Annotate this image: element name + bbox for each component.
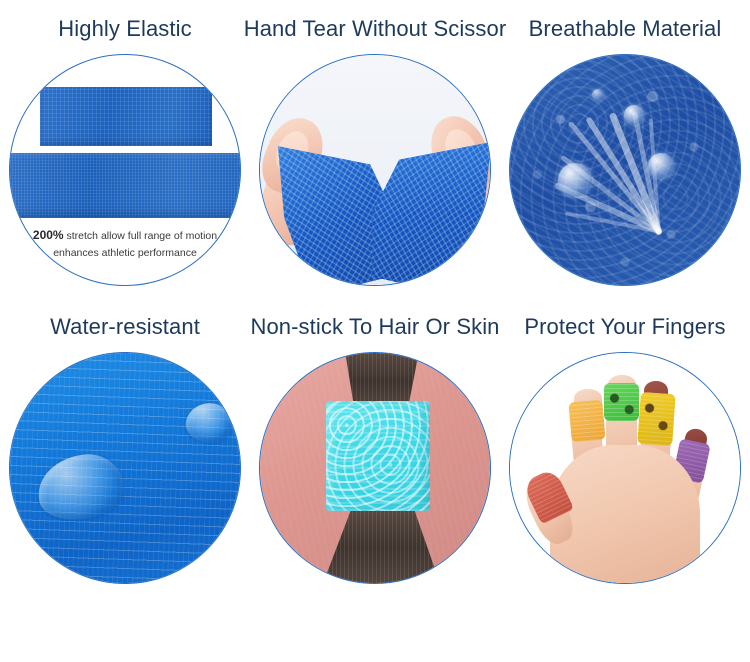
light-streaks-icon [510, 55, 740, 285]
feature-cell-water-resistant: Water-resistant [0, 300, 250, 584]
circle-frame [509, 352, 741, 584]
feature-row-top: Highly Elastic 200% stretch allow full r… [0, 0, 750, 286]
bandage-index-orange [568, 400, 605, 443]
circle-frame [509, 54, 741, 286]
elastic-caption: 200% stretch allow full range of motion … [10, 227, 240, 262]
bandage-strip-stretched [9, 153, 241, 218]
elastic-caption-line-1: 200% stretch allow full range of motion [33, 230, 217, 242]
feature-image-protect-fingers [509, 352, 741, 584]
feature-image-hand-tear [259, 54, 491, 286]
bandage-strip-unstretched [40, 87, 212, 146]
circle-frame [259, 54, 491, 286]
circle-frame [259, 352, 491, 584]
circle-frame: 200% stretch allow full range of motion … [9, 54, 241, 286]
turquoise-bandage-wrap [326, 401, 430, 511]
feature-title-non-stick: Non-stick To Hair Or Skin [250, 316, 499, 338]
palm [550, 445, 700, 584]
feature-cell-protect-fingers: Protect Your Fingers [500, 300, 750, 584]
bandage-middle-green [604, 383, 639, 421]
feature-cell-highly-elastic: Highly Elastic 200% stretch allow full r… [0, 0, 250, 286]
bandage-ring-yellow [637, 392, 676, 446]
feature-title-hand-tear: Hand Tear Without Scissor [244, 18, 507, 40]
circle-frame [9, 352, 241, 584]
feature-title-protect-fingers: Protect Your Fingers [524, 316, 725, 338]
feature-cell-hand-tear: Hand Tear Without Scissor [250, 0, 500, 286]
feature-image-non-stick [259, 352, 491, 584]
water-bubble-small [624, 105, 644, 125]
feature-grid-sheet: Highly Elastic 200% stretch allow full r… [0, 0, 750, 662]
elastic-caption-line-1-text: stretch allow full range of motion [64, 230, 218, 242]
feature-cell-breathable: Breathable Material [500, 0, 750, 286]
feature-image-highly-elastic: 200% stretch allow full range of motion … [9, 54, 241, 286]
feature-title-highly-elastic: Highly Elastic [58, 18, 191, 40]
feature-cell-non-stick: Non-stick To Hair Or Skin [250, 300, 500, 584]
feature-title-water-resistant: Water-resistant [50, 316, 200, 338]
elastic-caption-percent: 200% [33, 228, 64, 242]
elastic-caption-line-2: enhances athletic performance [53, 247, 197, 259]
feature-image-breathable [509, 54, 741, 286]
water-bubble-tiny [592, 89, 604, 101]
water-bubble-medium [648, 153, 674, 179]
feature-title-breathable: Breathable Material [529, 18, 722, 40]
water-bubble-large [558, 163, 592, 197]
feature-row-bottom: Water-resistant Non-stick To Hair Or Ski… [0, 300, 750, 584]
ribbed-fabric-background [10, 353, 240, 583]
feature-image-water-resistant [9, 352, 241, 584]
